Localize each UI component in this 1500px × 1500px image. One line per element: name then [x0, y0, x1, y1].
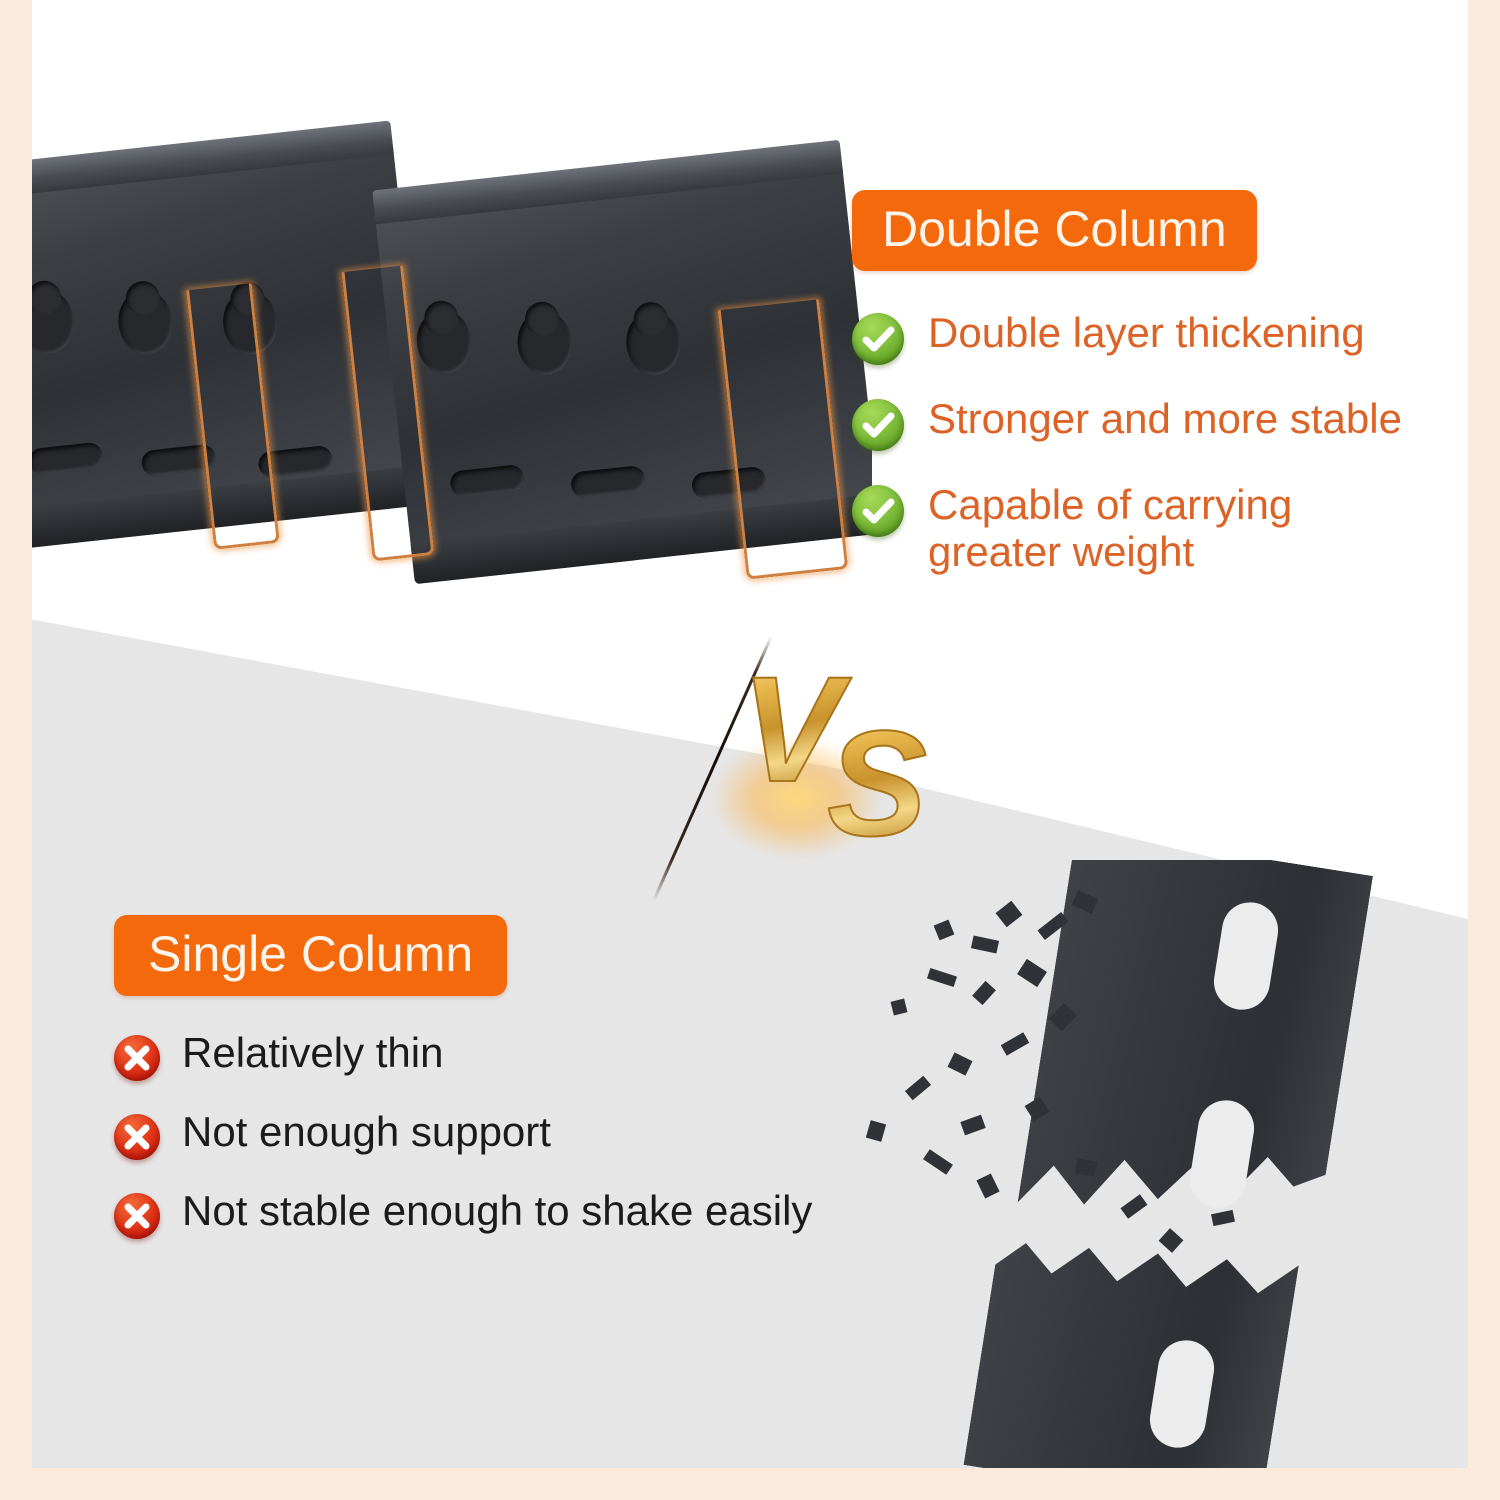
- versus-letter-s: S: [744, 708, 1004, 858]
- list-item: Relatively thin: [114, 1030, 944, 1081]
- single-column-drawback-list: Relatively thin Not enough support Not s…: [114, 1030, 944, 1239]
- check-circle-icon: [852, 399, 904, 451]
- debris-fragment: [905, 1076, 931, 1101]
- feature-label: Capable of carrying greater weight: [928, 481, 1348, 575]
- infographic-frame: V S Double Column Double layer thickenin…: [32, 0, 1468, 1468]
- debris-fragment: [923, 1149, 953, 1175]
- drawback-label: Not stable enough to shake easily: [182, 1188, 812, 1234]
- list-item: Double layer thickening: [852, 309, 1452, 365]
- debris-fragment: [1075, 1158, 1097, 1176]
- double-column-panel: Double Column Double layer thickening St…: [852, 190, 1452, 605]
- check-circle-icon: [852, 313, 904, 365]
- debris-fragment: [866, 1120, 886, 1142]
- debris-fragment: [891, 999, 908, 1016]
- check-circle-icon: [852, 485, 904, 537]
- cross-circle-icon: [114, 1114, 160, 1160]
- double-column-badge: Double Column: [852, 190, 1257, 271]
- broken-column-product-photo: [832, 860, 1468, 1468]
- debris-fragment: [971, 935, 999, 953]
- debris-fragment: [1001, 1032, 1030, 1055]
- list-item: Not enough support: [114, 1109, 944, 1160]
- list-item: Capable of carrying greater weight: [852, 481, 1452, 575]
- versus-graphic: V S: [652, 650, 912, 880]
- debris-fragment: [960, 1115, 985, 1136]
- debris-fragment: [948, 1052, 973, 1075]
- debris-fragment: [1017, 959, 1047, 987]
- list-item: Stronger and more stable: [852, 395, 1452, 451]
- drawback-label: Not enough support: [182, 1109, 551, 1155]
- cross-circle-icon: [114, 1193, 160, 1239]
- debris-fragment: [934, 920, 955, 941]
- feature-label: Double layer thickening: [928, 309, 1365, 356]
- broken-post-lower-piece: [964, 1208, 1301, 1468]
- debris-fragment: [1159, 1228, 1184, 1253]
- debris-fragment: [927, 968, 957, 987]
- single-column-panel: Single Column Relatively thin Not enough…: [114, 915, 944, 1267]
- double-column-feature-list: Double layer thickening Stronger and mor…: [852, 309, 1452, 575]
- debris-fragment: [976, 1174, 999, 1199]
- feature-label: Stronger and more stable: [928, 395, 1402, 442]
- debris-fragment: [1120, 1194, 1147, 1219]
- single-column-badge: Single Column: [114, 915, 507, 996]
- drawback-label: Relatively thin: [182, 1030, 443, 1076]
- cross-circle-icon: [114, 1035, 160, 1081]
- list-item: Not stable enough to shake easily: [114, 1188, 944, 1239]
- debris-fragment: [972, 981, 996, 1005]
- debris-fragment: [1211, 1210, 1235, 1226]
- debris-fragment: [996, 901, 1023, 927]
- double-column-product-photo: [32, 108, 872, 638]
- broken-post-upper-piece: [1011, 860, 1373, 1291]
